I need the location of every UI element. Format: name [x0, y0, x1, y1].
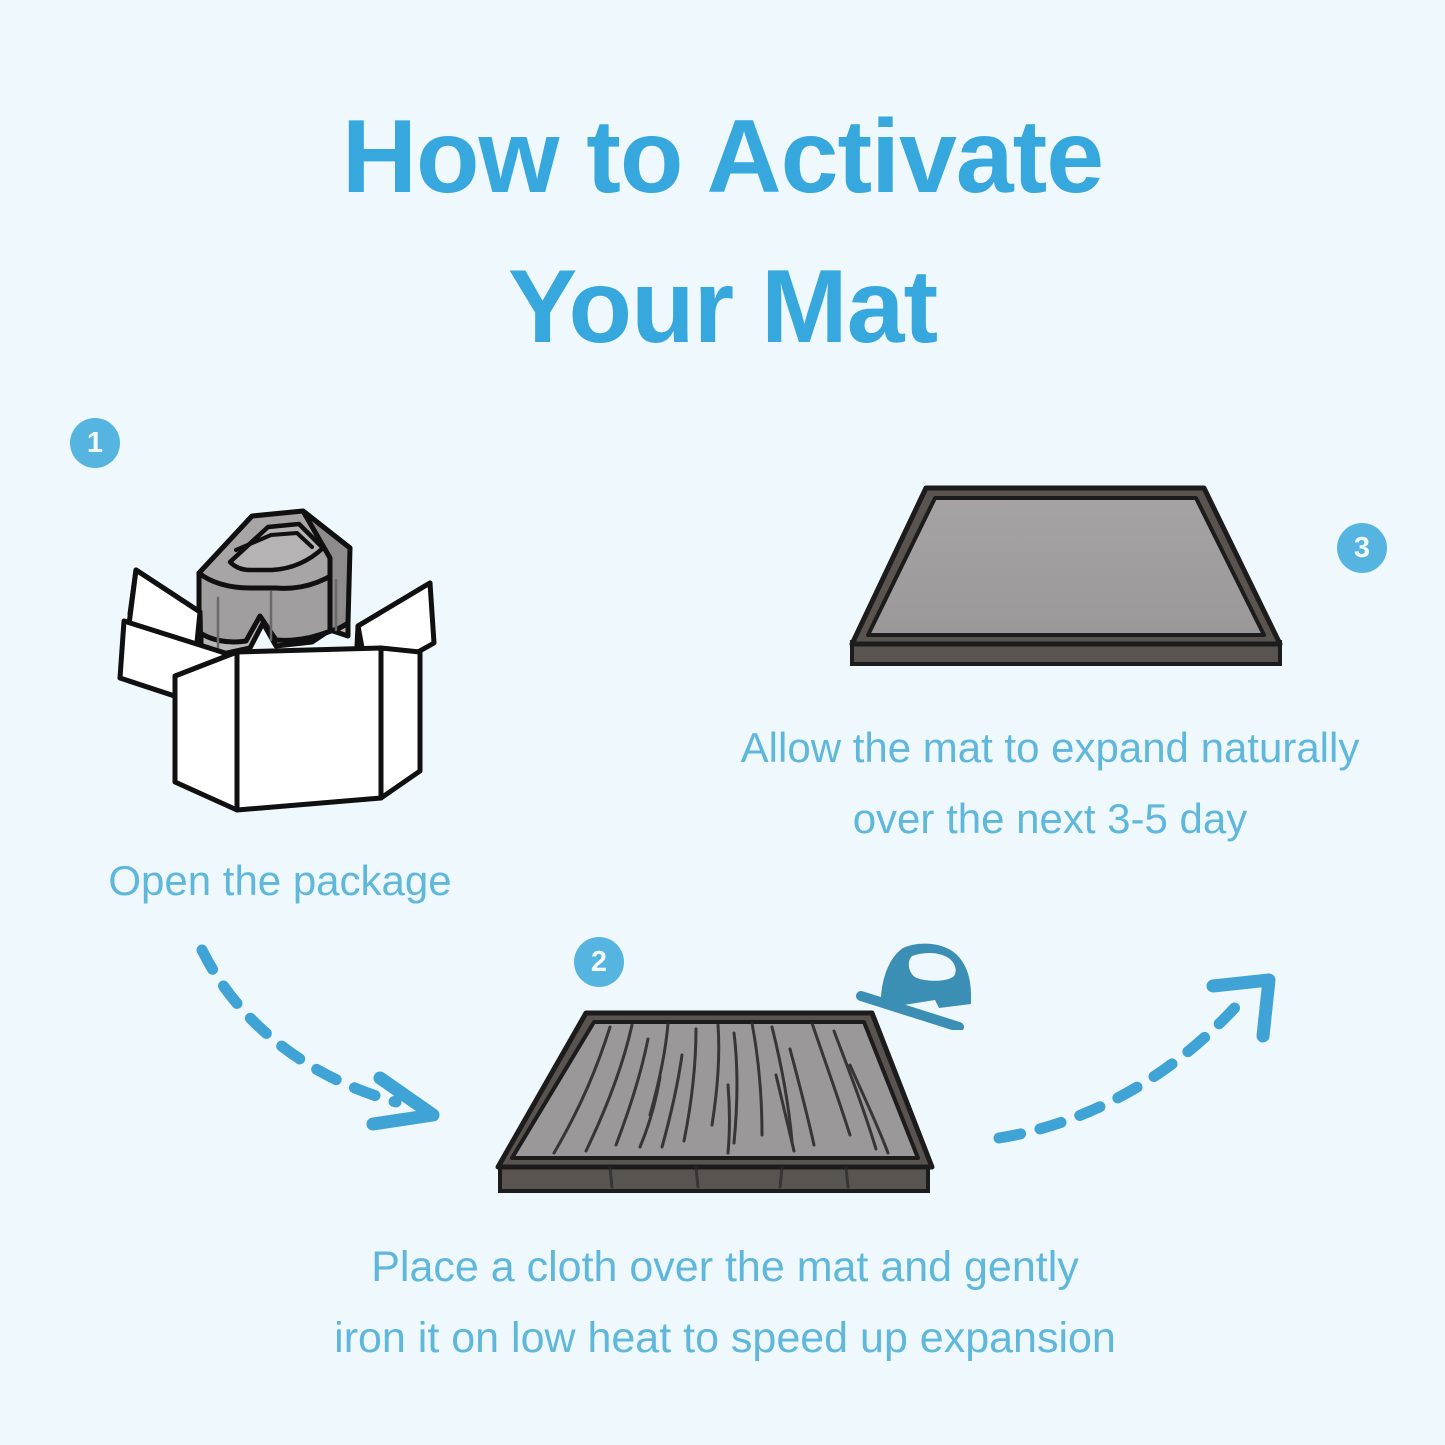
step-2-badge: 2 [574, 937, 624, 987]
step-3-caption: Allow the mat to expand naturally over t… [660, 712, 1440, 854]
step-1-caption: Open the package [20, 845, 540, 916]
page-title-line-1: How to Activate [0, 82, 1445, 232]
step-2-caption: Place a cloth over the mat and gently ir… [235, 1232, 1215, 1374]
step-1-badge: 1 [70, 418, 120, 468]
open-box-illustration [100, 480, 460, 825]
step-2-caption-line-1: Place a cloth over the mat and gently [235, 1232, 1215, 1303]
infographic-canvas: How to Activate Your Mat 1 [0, 0, 1445, 1445]
step-3-caption-line-2: over the next 3-5 day [660, 783, 1440, 854]
step-1-caption-line-1: Open the package [20, 845, 540, 916]
dashed-arrow-step1-to-step2 [168, 928, 494, 1142]
page-title-line-2: Your Mat [0, 232, 1445, 382]
expanded-mat-illustration [830, 470, 1312, 682]
compressed-mat-pack [199, 511, 350, 655]
step-2-caption-line-2: iron it on low heat to speed up expansio… [235, 1303, 1215, 1374]
wrinkled-mat-illustration [490, 1005, 960, 1210]
step-3-caption-line-1: Allow the mat to expand naturally [660, 712, 1440, 783]
step-3-badge: 3 [1337, 523, 1387, 573]
page-title: How to Activate Your Mat [0, 82, 1445, 382]
dashed-arrow-step2-to-step3 [985, 958, 1289, 1162]
